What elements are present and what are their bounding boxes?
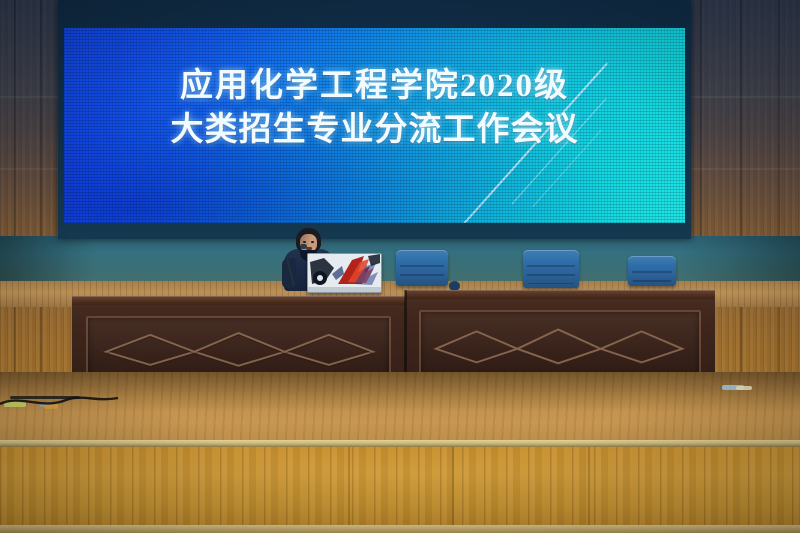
screen-title-text: 应用化学工程学院2020级 大类招生专业分流工作会议 — [64, 64, 685, 152]
podium-diamond-motif-icon — [421, 312, 699, 374]
stage-front-bottom-trim — [0, 525, 800, 533]
paper-scrap-2 — [736, 386, 752, 390]
microphone-head-icon — [300, 244, 307, 249]
laptop — [307, 253, 382, 293]
podium-panel-left — [86, 316, 391, 380]
podium-top-edge — [405, 290, 715, 299]
stage-front-seam — [452, 447, 454, 533]
wall-seam — [740, 0, 742, 420]
chair-right — [628, 256, 676, 286]
led-screen-frame: 应用化学工程学院2020级 大类招生专业分流工作会议 — [58, 0, 691, 239]
chair-left — [396, 250, 448, 286]
wall-seam — [14, 0, 16, 420]
podium-diamond-motif-icon — [88, 318, 389, 378]
chair-center — [523, 250, 579, 288]
stage-cable-icon — [0, 388, 200, 412]
stage-front-seam — [588, 447, 590, 533]
wall-seam — [40, 0, 42, 420]
stage-front-seam — [348, 447, 350, 533]
person-eye-right — [311, 241, 314, 243]
laptop-decal-icon — [308, 254, 381, 292]
screen-title-line-2: 大类招生专业分流工作会议 — [64, 108, 685, 152]
person-eye-left — [303, 241, 306, 243]
led-screen: 应用化学工程学院2020级 大类招生专业分流工作会议 — [64, 28, 685, 223]
photo-scene: 应用化学工程学院2020级 大类招生专业分流工作会议 — [0, 0, 800, 533]
podium-panel-right — [419, 310, 701, 376]
podium-top-edge — [72, 296, 405, 305]
stage-lip — [0, 440, 800, 447]
stage-front-panel — [0, 447, 800, 533]
screen-title-line-1: 应用化学工程学院2020级 — [64, 64, 685, 108]
wall-seam — [778, 0, 780, 420]
